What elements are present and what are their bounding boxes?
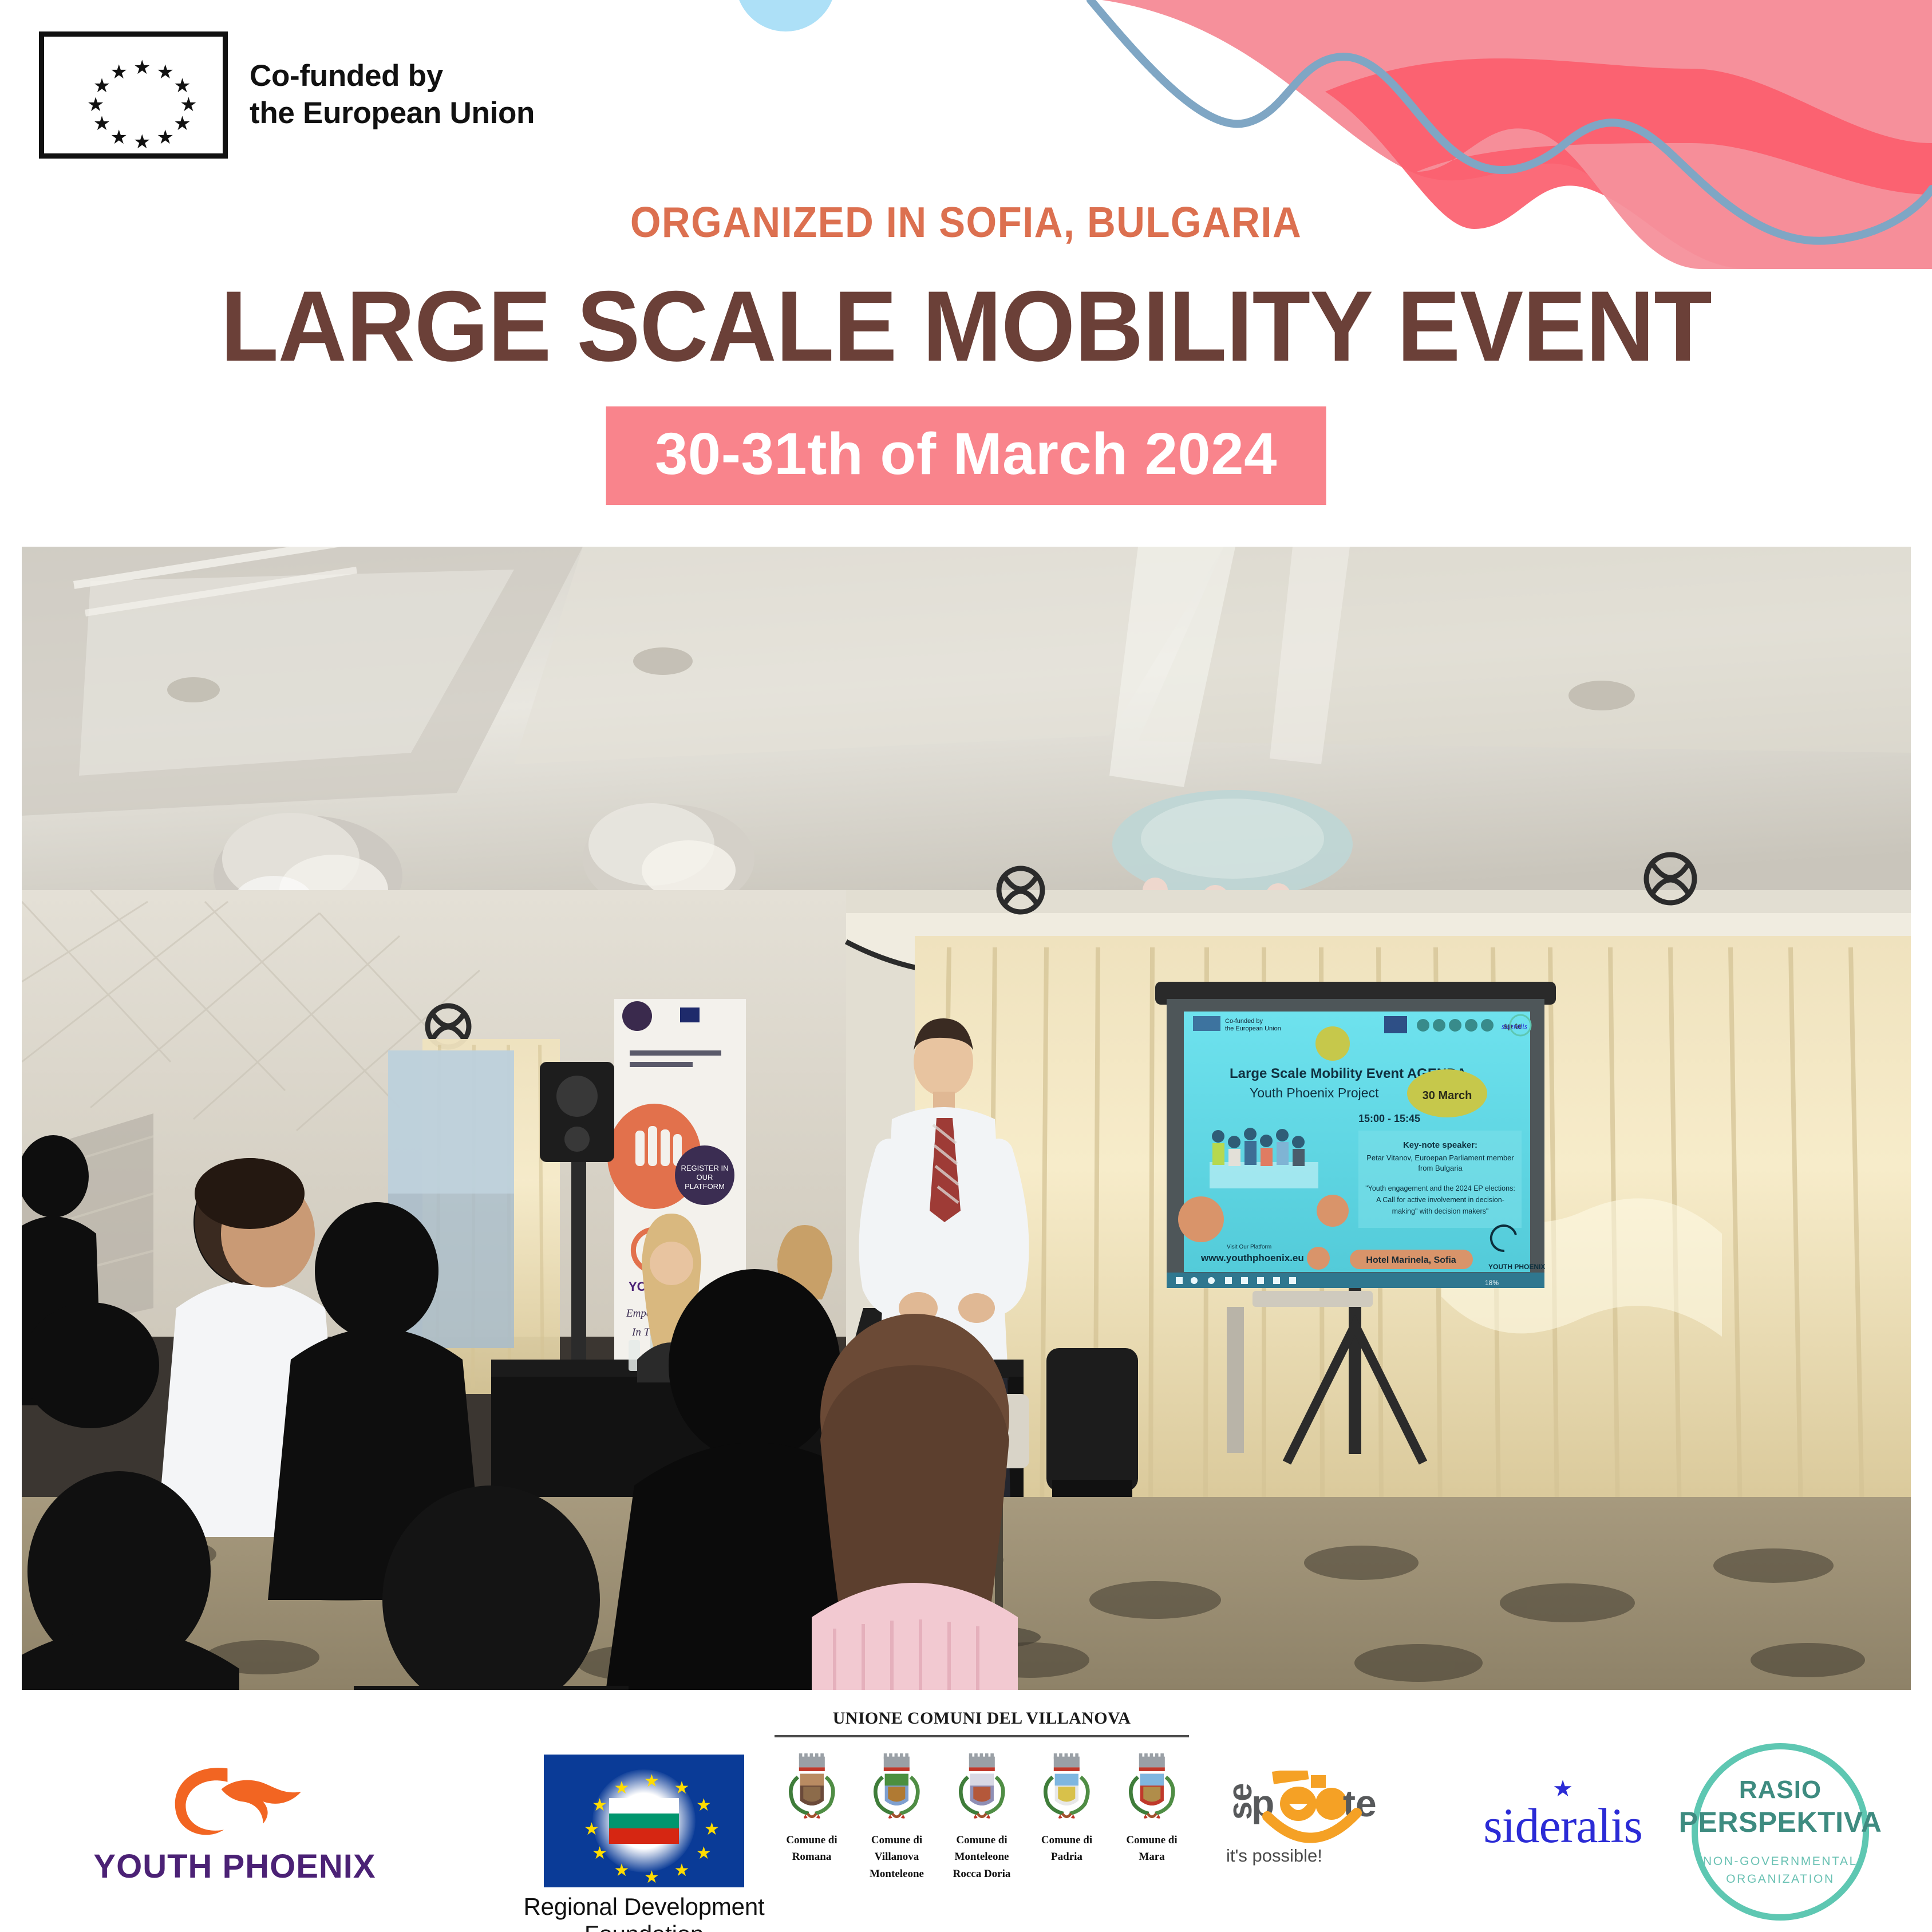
event-location-kicker: ORGANIZED IN SOFIA, BULGARIA (77, 197, 1855, 247)
decorative-blue-circle (736, 0, 836, 31)
comune-crest-item: Comune diPadria (1029, 1753, 1105, 1882)
svg-text:PLATFORM: PLATFORM (685, 1182, 725, 1191)
rdf-label: Regional Development Foundation (489, 1893, 799, 1932)
unione-title: UNIONE COMUNI DEL VILLANOVA (770, 1709, 1194, 1728)
unione-divider (775, 1735, 1189, 1737)
rasio-line2: PERSPEKTIVA (1679, 1805, 1882, 1839)
svg-text:sideralis: sideralis (1502, 1022, 1527, 1030)
youth-phoenix-name: YOUTH PHOENIX (80, 1847, 389, 1886)
partner-logo-strip: YOUTH PHOENIX ★★★★★★★★★★★★ Regional Deve… (0, 1709, 1932, 1932)
svg-text:Co-funded by: Co-funded by (1225, 1018, 1263, 1025)
sideralis-name: sideralis (1457, 1797, 1669, 1854)
logo-regional-development-foundation: ★★★★★★★★★★★★ Regional Development Founda… (489, 1755, 799, 1932)
svg-text:A Call for active involvement: A Call for active involvement in decisio… (1376, 1196, 1504, 1204)
svg-text:from Bulgaria: from Bulgaria (1418, 1164, 1463, 1172)
svg-text:the European Union: the European Union (1225, 1025, 1281, 1032)
svg-text:30 March: 30 March (1423, 1089, 1472, 1102)
rasio-subtitle: NON-GOVERNMENTAL ORGANIZATION (1703, 1852, 1858, 1888)
logo-sideralis: ★ sideralis (1457, 1777, 1669, 1854)
logo-unione-comuni: UNIONE COMUNI DEL VILLANOVA Comune diRom… (770, 1709, 1194, 1882)
comune-label: Comune diRomana (773, 1832, 850, 1866)
svg-text:OUR: OUR (697, 1173, 713, 1182)
svg-text:Hotel Marinela, Sofia: Hotel Marinela, Sofia (1366, 1255, 1456, 1265)
svg-text:18%: 18% (1485, 1279, 1499, 1287)
comune-crest-item: Comune diMonteleone Rocca Doria (943, 1753, 1020, 1882)
logo-sepoate: se p te it's possible! (1214, 1771, 1414, 1866)
eu-cofunding-label: Co-funded by the European Union (250, 58, 535, 132)
comune-coat-of-arms-icon (950, 1753, 1014, 1823)
phoenix-bird-icon (155, 1757, 315, 1843)
svg-text:REGISTER IN: REGISTER IN (681, 1164, 728, 1172)
eu-bulgaria-flag-icon: ★★★★★★★★★★★★ (544, 1755, 744, 1887)
comune-coat-of-arms-icon (864, 1753, 929, 1823)
svg-text:Petar Vitanov, Euroepan Parlia: Petar Vitanov, Euroepan Parliament membe… (1366, 1153, 1514, 1162)
comune-crest-item: Comune diMara (1113, 1753, 1190, 1882)
page-title: LARGE SCALE MOBILITY EVENT (48, 269, 1883, 384)
comune-coat-of-arms-icon (1034, 1753, 1099, 1823)
comune-label: Comune diMara (1113, 1832, 1190, 1866)
comune-label: Comune diVillanova Monteleone (859, 1832, 935, 1882)
comune-crest-item: Comune diVillanova Monteleone (859, 1753, 935, 1882)
svg-text:making" with decision makers": making" with decision makers" (1392, 1207, 1489, 1215)
comune-label: Comune diMonteleone Rocca Doria (943, 1832, 1020, 1882)
rasio-line1: RASIO (1739, 1776, 1822, 1804)
comuni-crest-row: Comune diRomanaComune diVillanova Montel… (770, 1753, 1194, 1882)
svg-text:Visit Our Platform: Visit Our Platform (1227, 1244, 1271, 1250)
svg-text:www.youthphoenix.eu: www.youthphoenix.eu (1200, 1253, 1304, 1263)
svg-text:YOUTH PHOENIX: YOUTH PHOENIX (1488, 1263, 1545, 1271)
event-date-banner: 30-31th of March 2024 (606, 406, 1326, 505)
event-date-text: 30-31th of March 2024 (655, 420, 1277, 488)
event-photo: REGISTER IN OUR PLATFORM YOUTH Empower Y… (22, 547, 1911, 1690)
bulgaria-flag-icon (609, 1798, 679, 1844)
rasio-line3: NON-GOVERNMENTAL (1703, 1855, 1858, 1868)
eu-flag-icon: ★★★★★★★★★★★★ (39, 31, 228, 159)
comune-label: Comune diPadria (1029, 1832, 1105, 1866)
sepoate-wordmark-icon: se p te (1219, 1771, 1408, 1845)
comune-coat-of-arms-icon (780, 1753, 844, 1823)
logo-rasio-perspektiva: RASIO PERSPEKTIVA NON-GOVERNMENTAL ORGAN… (1692, 1743, 1869, 1921)
event-poster: ★★★★★★★★★★★★ Co-funded by the European U… (0, 0, 1932, 1932)
logo-youth-phoenix: YOUTH PHOENIX (80, 1757, 389, 1886)
svg-text:Youth Phoenix Project: Youth Phoenix Project (1250, 1085, 1379, 1100)
svg-text:15:00 - 15:45: 15:00 - 15:45 (1358, 1113, 1420, 1124)
event-photo-illustration: REGISTER IN OUR PLATFORM YOUTH Empower Y… (22, 547, 1911, 1690)
eu-cofunding-emblem: ★★★★★★★★★★★★ Co-funded by the European U… (39, 31, 535, 159)
comune-crest-item: Comune diRomana (773, 1753, 850, 1882)
rasio-line4: ORGANIZATION (1726, 1872, 1834, 1886)
comune-coat-of-arms-icon (1120, 1753, 1184, 1823)
svg-text:Key-note speaker:: Key-note speaker: (1403, 1140, 1477, 1150)
sepoate-tagline: it's possible! (1214, 1846, 1414, 1866)
svg-text:"Youth engagement and the 2024: "Youth engagement and the 2024 EP electi… (1365, 1184, 1515, 1192)
